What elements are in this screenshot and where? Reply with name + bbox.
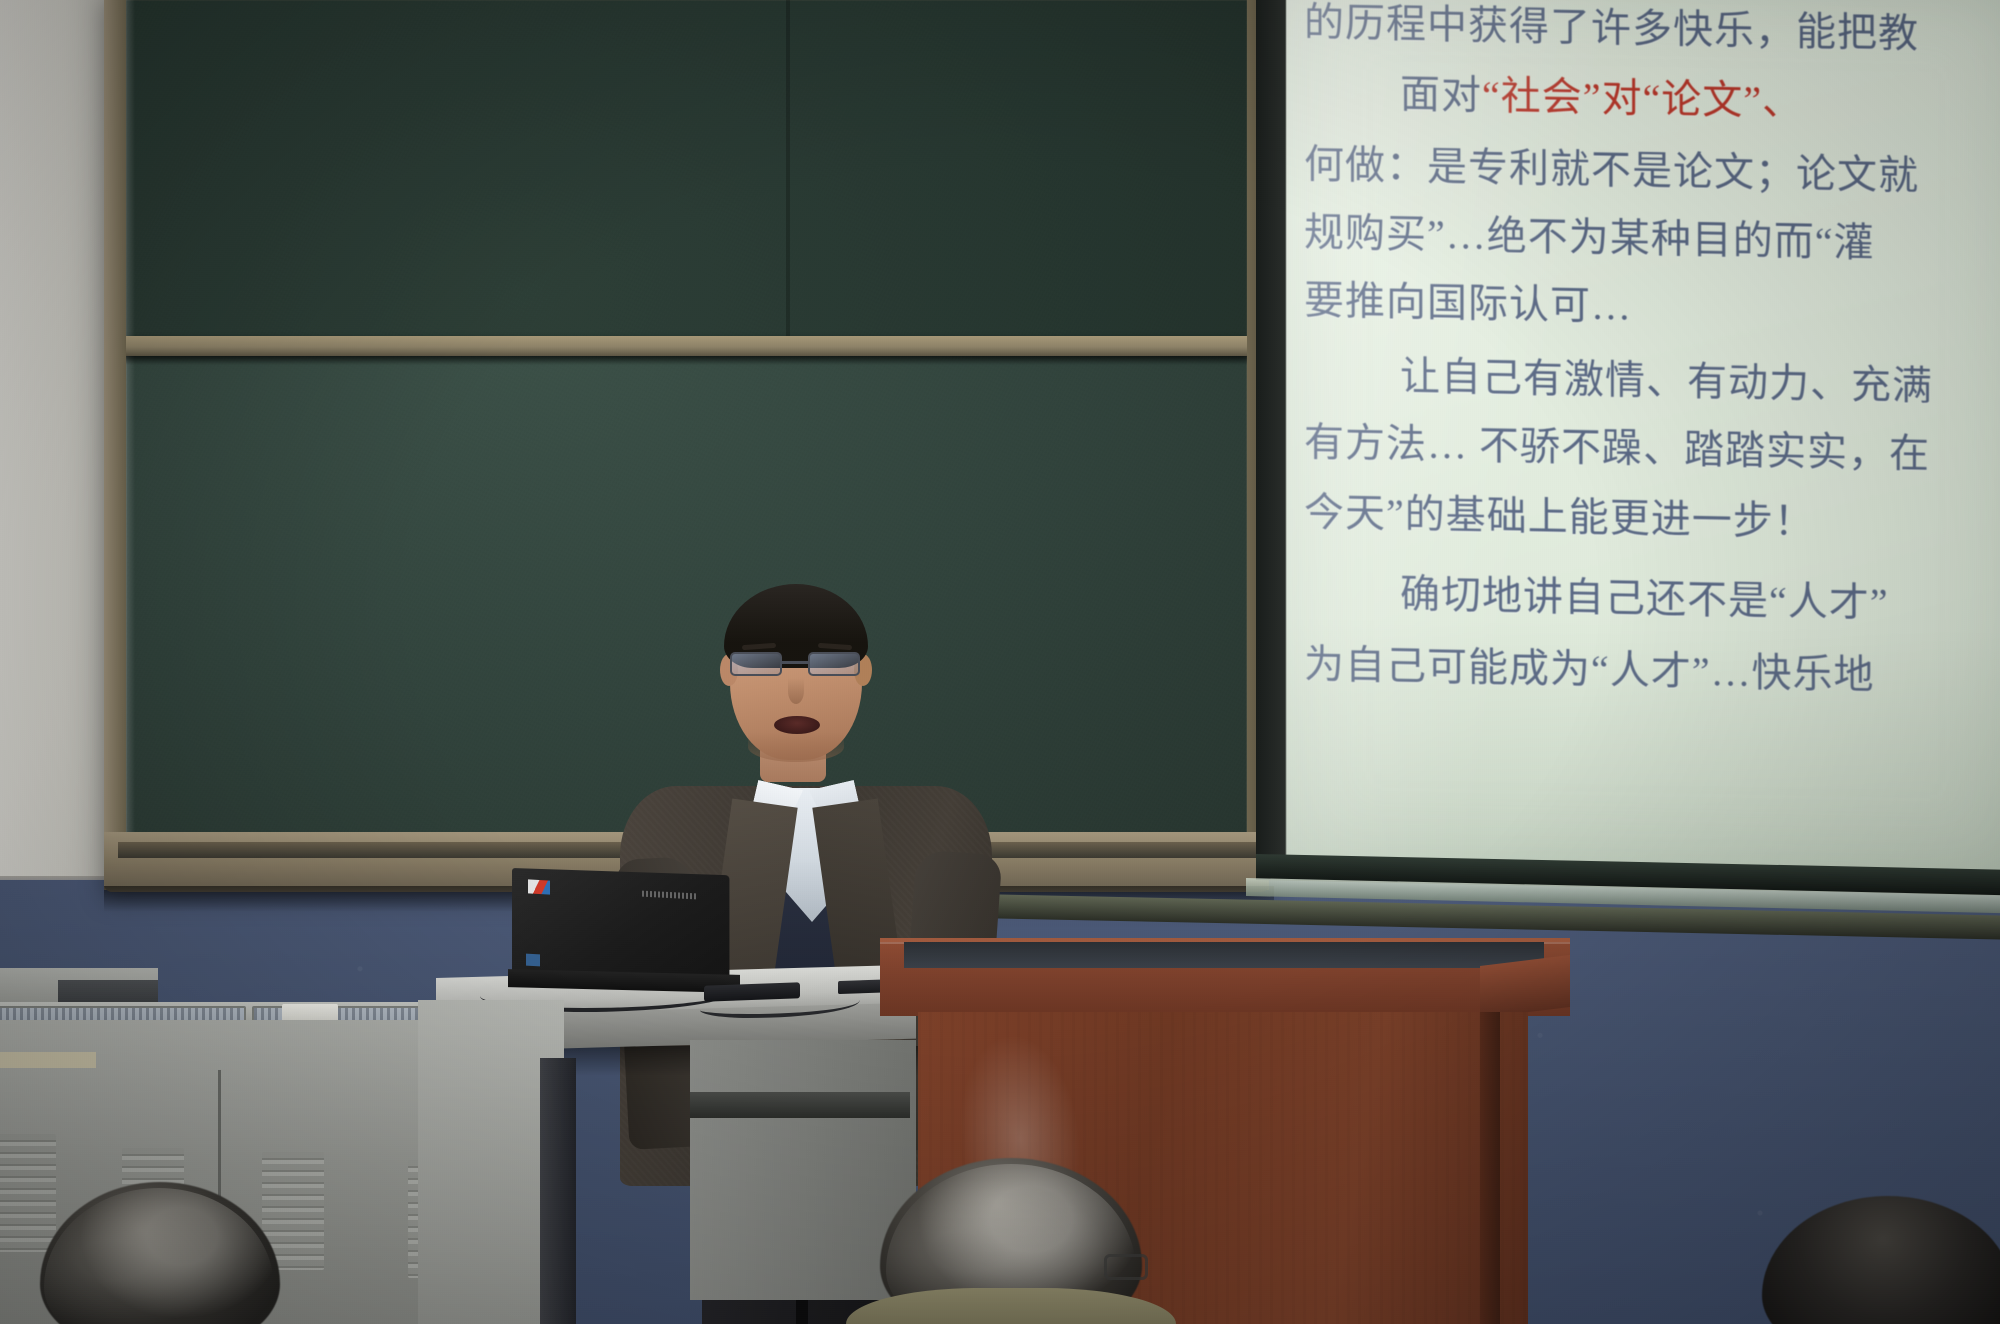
chalkboard-upper-panel [126, 0, 1247, 336]
slide-line-1: 的历程中获得了许多快乐，能把教 [1304, 2, 1919, 54]
glasses-bridge [782, 661, 808, 664]
slide-line-7: 有方法… 不骄不躁、踏踏实实，在 [1304, 422, 1930, 474]
keyboard-tray[interactable] [690, 1092, 910, 1118]
screen-surface: 面获… 的历程中获得了许多快乐，能把教 面对“社会”对“论文”、 何做：是专利就… [1286, 0, 2000, 880]
glasses-lens-left [730, 652, 782, 676]
laptop-logo-icon [528, 879, 550, 894]
slide-line-6: 让自己有激情、有动力、充满 [1304, 354, 1933, 406]
slide-line-2-prefix: 面对 [1400, 71, 1482, 118]
chalkboard-inner-edge [126, 0, 135, 836]
slide-line-5: 要推向国际认可… [1304, 280, 1632, 326]
slide-line-4: 规购买”…绝不为某种目的而“灌 [1304, 212, 1875, 263]
lectern-top-surface [904, 942, 1544, 968]
glasses-lens-right [808, 652, 860, 676]
left-wall-strip [0, 0, 108, 905]
cabinet-label-sticker [0, 1052, 96, 1068]
chalkboard-slide-rail [126, 336, 1247, 356]
audience-glasses-icon [1104, 1254, 1148, 1280]
slide-line-9: 确切地讲自己还不是“人才” [1304, 572, 1889, 623]
slide-line-2-highlight: “社会”对“论文”、 [1482, 73, 1803, 124]
slide-line-3: 何做：是专利就不是论文；论文就 [1304, 144, 1919, 196]
chalkboard-frame-left [104, 0, 126, 874]
lectern-top-right-face [1480, 955, 1570, 1018]
cabinet-vent-1 [0, 1134, 56, 1252]
speaker-nose [788, 678, 804, 704]
projection-screen: 面获… 的历程中获得了许多快乐，能把教 面对“社会”对“论文”、 何做：是专利就… [1256, 0, 2000, 886]
speaker-chin [748, 732, 844, 762]
lectern-right-edge [1480, 1012, 1500, 1324]
chalkboard-rail-shadow [126, 356, 1247, 365]
slide-line-10: 为自己可能成为“人才”…快乐地 [1304, 644, 1875, 695]
chalkboard-panel-seam [786, 0, 790, 336]
lecture-hall-photo: 面获… 的历程中获得了许多快乐，能把教 面对“社会”对“论文”、 何做：是专利就… [0, 0, 2000, 1324]
cabinet-side-shadow [540, 1058, 576, 1324]
presentation-remote[interactable] [704, 982, 800, 1001]
glasses-icon [726, 652, 868, 678]
slide-line-2: 面对“社会”对“论文”、 [1304, 72, 1803, 122]
slide-line-8: 今天”的基础上能更进一步！ [1304, 492, 1815, 542]
screen-left-bezel [1256, 0, 1288, 866]
laptop-badge-icon [526, 954, 540, 967]
slide-text-block: 面获… 的历程中获得了许多快乐，能把教 面对“社会”对“论文”、 何做：是专利就… [1286, 0, 2000, 880]
